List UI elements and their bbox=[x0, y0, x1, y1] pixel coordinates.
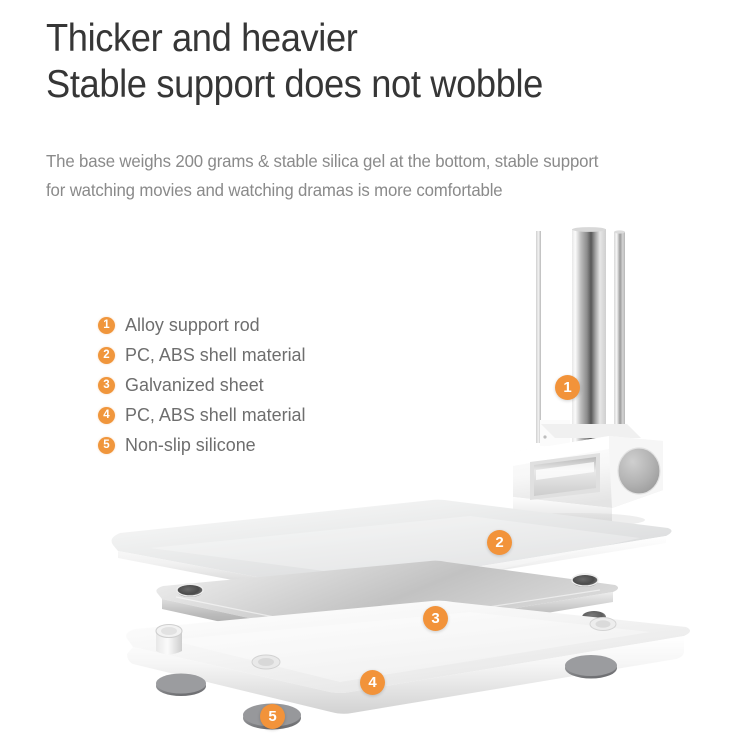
headline-block: Thicker and heavier Stable support does … bbox=[46, 16, 726, 108]
headline-line-2: Stable support does not wobble bbox=[46, 62, 678, 108]
legend-list: 1 Alloy support rod 2 PC, ABS shell mate… bbox=[98, 310, 398, 460]
base-boss bbox=[156, 625, 182, 655]
legend-item-label: Alloy support rod bbox=[125, 314, 260, 336]
top-plate-layer-2 bbox=[112, 500, 672, 598]
description-line-1: The base weighs 200 grams & stable silic… bbox=[46, 147, 708, 176]
list-item: 1 Alloy support rod bbox=[98, 310, 398, 340]
infographic-page: Thicker and heavier Stable support does … bbox=[0, 0, 750, 750]
legend-number-badge: 5 bbox=[98, 437, 115, 454]
callout-badge-3: 3 bbox=[423, 606, 448, 631]
description-paragraph: The base weighs 200 grams & stable silic… bbox=[46, 147, 708, 205]
hinge-block bbox=[505, 424, 663, 527]
list-item: 4 PC, ABS shell material bbox=[98, 400, 398, 430]
headline-line-1: Thicker and heavier bbox=[46, 16, 678, 62]
alloy-support-rod-group bbox=[536, 227, 625, 446]
description-line-2: for watching movies and watching dramas … bbox=[46, 176, 708, 205]
list-item: 5 Non-slip silicone bbox=[98, 430, 398, 460]
legend-item-label: PC, ABS shell material bbox=[125, 404, 306, 426]
galvanized-sheet-layer-3 bbox=[156, 561, 618, 647]
callout-badge-1: 1 bbox=[555, 375, 580, 400]
legend-number-badge: 2 bbox=[98, 347, 115, 364]
base-layer-4 bbox=[126, 601, 690, 714]
legend-number-badge: 4 bbox=[98, 407, 115, 424]
legend-number-badge: 1 bbox=[98, 317, 115, 334]
legend-item-label: Non-slip silicone bbox=[125, 434, 256, 456]
list-item: 2 PC, ABS shell material bbox=[98, 340, 398, 370]
legend-number-badge: 3 bbox=[98, 377, 115, 394]
callout-badge-5: 5 bbox=[260, 704, 285, 729]
list-item: 3 Galvanized sheet bbox=[98, 370, 398, 400]
silicone-feet-layer-5 bbox=[156, 655, 617, 730]
callout-badge-4: 4 bbox=[360, 670, 385, 695]
legend-item-label: PC, ABS shell material bbox=[125, 344, 306, 366]
legend-item-label: Galvanized sheet bbox=[125, 374, 264, 396]
callout-badge-2: 2 bbox=[487, 530, 512, 555]
